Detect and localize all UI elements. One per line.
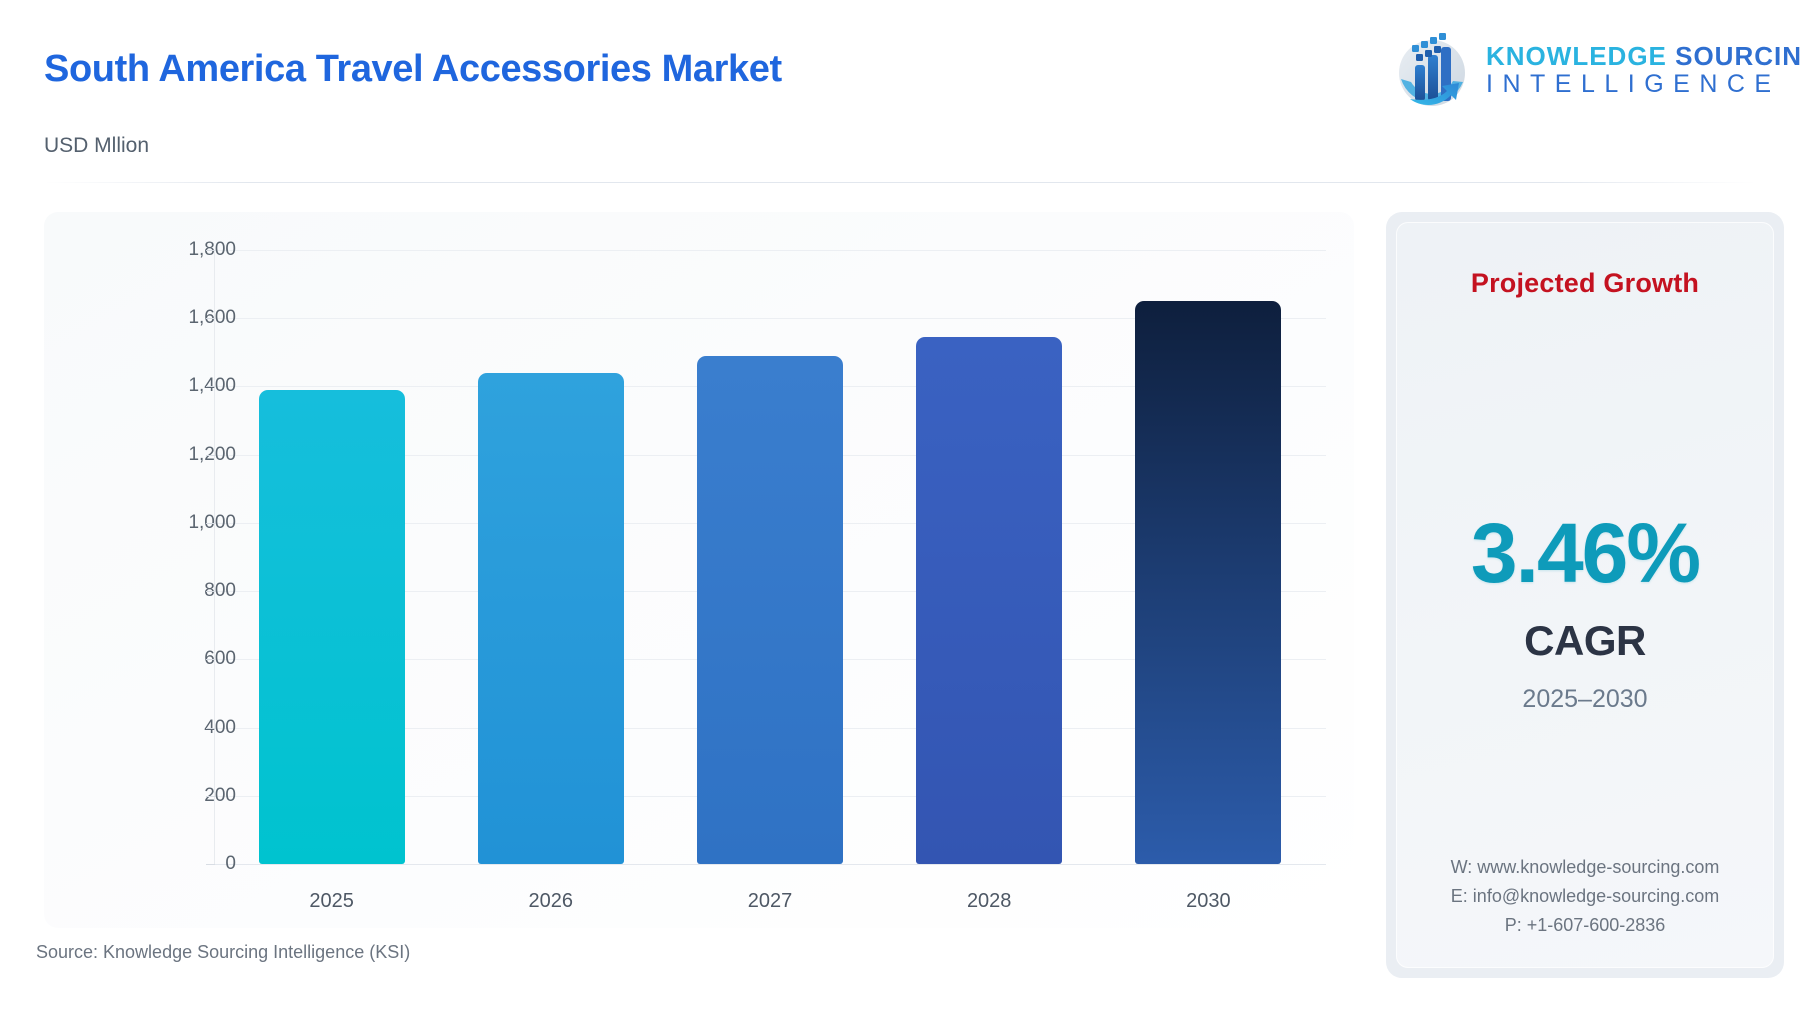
contact-website[interactable]: W: www.knowledge-sourcing.com (1396, 853, 1774, 882)
y-axis-line (214, 250, 215, 864)
bar-slot: 2027 (697, 250, 843, 864)
y-axis-tick-mark (206, 659, 215, 660)
page-title: South America Travel Accessories Market (44, 48, 782, 91)
y-axis-tick-label: 200 (126, 785, 236, 807)
gridline (214, 864, 1326, 865)
x-axis-label-2030: 2030 (1135, 890, 1281, 913)
y-axis-tick-mark (206, 523, 215, 524)
y-axis-tick-label: 600 (126, 648, 236, 670)
bar-slot: 2028 (916, 250, 1062, 864)
projected-growth-card: Projected Growth 3.46% CAGR 2025–2030 W:… (1386, 212, 1784, 978)
projected-growth-title: Projected Growth (1471, 268, 1699, 299)
y-axis-tick-mark (206, 864, 215, 865)
logo-wordmark: KNOWLEDGE SOURCING INTELLIGENCE (1486, 43, 1800, 97)
y-axis-tick-mark (206, 318, 215, 319)
bar-slot: 2025 (259, 250, 405, 864)
bar-chart-plot-area: 02004006008001,0001,2001,4001,6001,800 2… (174, 250, 1326, 864)
page-header: South America Travel Accessories Market … (0, 0, 1800, 178)
x-axis-label-2025: 2025 (259, 890, 405, 913)
y-axis-tick-label: 1,200 (126, 444, 236, 466)
cagr-value: 3.46% (1471, 511, 1699, 595)
y-axis-tick-label: 400 (126, 717, 236, 739)
bar-2026[interactable] (478, 373, 624, 864)
bar-2025[interactable] (259, 390, 405, 864)
x-axis-label-2027: 2027 (697, 890, 843, 913)
bar-slot: 2030 (1135, 250, 1281, 864)
bar-slot: 2026 (478, 250, 624, 864)
infographic-page: South America Travel Accessories Market … (0, 0, 1800, 1012)
y-axis-tick-label: 1,000 (126, 512, 236, 534)
y-axis-tick-mark (206, 591, 215, 592)
logo-text-sourcing: SOURCING (1675, 41, 1800, 71)
bar-2030[interactable] (1135, 301, 1281, 864)
header-divider (44, 182, 1756, 183)
cagr-label: CAGR (1524, 617, 1646, 665)
y-axis-tick-mark (206, 455, 215, 456)
x-axis-label-2026: 2026 (478, 890, 624, 913)
y-axis-tick-mark (206, 728, 215, 729)
brand-logo: KNOWLEDGE SOURCING INTELLIGENCE (1388, 24, 1760, 116)
contact-block: W: www.knowledge-sourcing.com E: info@kn… (1396, 853, 1774, 940)
y-axis-tick-mark (206, 796, 215, 797)
x-axis-label-2028: 2028 (916, 890, 1062, 913)
ksi-globe-bars-arrow-logo (1388, 27, 1474, 113)
y-axis-tick-label: 0 (126, 853, 236, 875)
cagr-period: 2025–2030 (1522, 685, 1647, 714)
y-axis-tick-mark (206, 386, 215, 387)
chart-panel: 02004006008001,0001,2001,4001,6001,800 2… (44, 212, 1354, 928)
bars-group: 20252026202720282030 (222, 250, 1320, 864)
y-axis-tick-label: 1,600 (126, 307, 236, 329)
chart-unit-subtitle: USD Mllion (44, 134, 149, 158)
y-axis-tick-mark (206, 250, 215, 251)
source-note: Source: Knowledge Sourcing Intelligence … (36, 942, 410, 963)
logo-text-intelligence: INTELLIGENCE (1486, 71, 1800, 97)
contact-phone[interactable]: P: +1-607-600-2836 (1396, 911, 1774, 940)
logo-text-knowledge: KNOWLEDGE (1486, 41, 1675, 71)
bar-2028[interactable] (916, 337, 1062, 864)
contact-email[interactable]: E: info@knowledge-sourcing.com (1396, 882, 1774, 911)
y-axis-tick-label: 800 (126, 580, 236, 602)
y-axis-tick-label: 1,400 (126, 375, 236, 397)
y-axis-tick-label: 1,800 (126, 239, 236, 261)
bar-2027[interactable] (697, 356, 843, 864)
